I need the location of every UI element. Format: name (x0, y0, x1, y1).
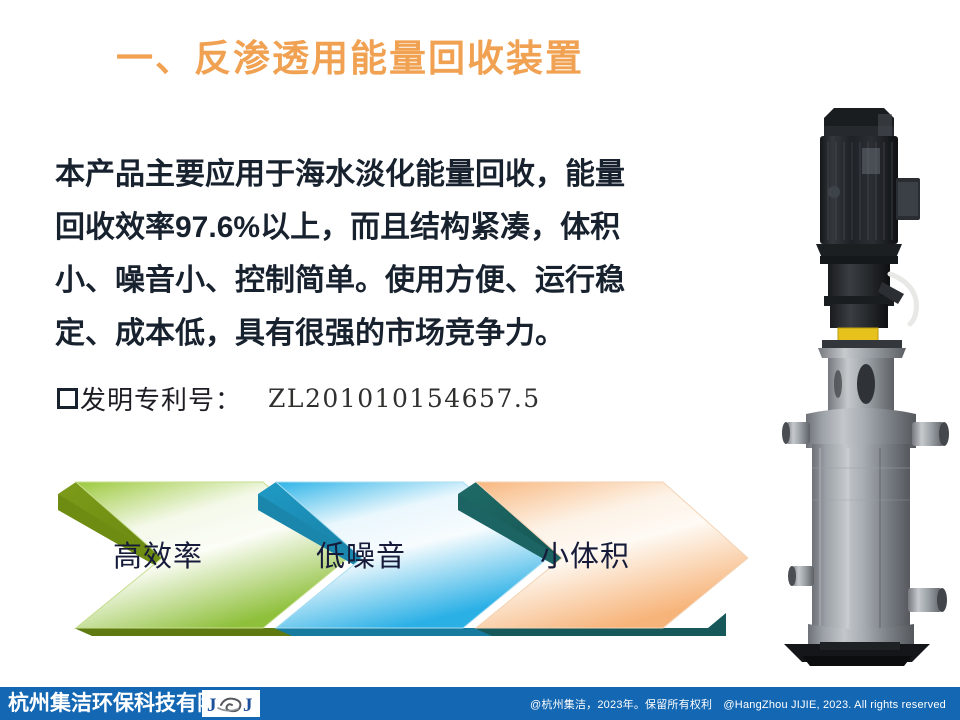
chevron-group: 高效率 (0, 470, 740, 640)
page-title: 一、反渗透用能量回收装置 (0, 28, 700, 82)
patent-label: 发明专利号： (80, 380, 242, 417)
company-logo: J J (202, 690, 260, 717)
footer-copyright: @杭州集洁，2023年。保留所有权利 @HangZhou JIJIE, 2023… (530, 696, 946, 712)
chevron-label: 低噪音 (316, 533, 406, 575)
footer-bar: 杭州集洁环保科技有限公司 J J @杭州集洁，2023年。保留所有权利 @Han… (0, 687, 960, 720)
chevron-label: 高效率 (113, 533, 203, 575)
jijie-logo-icon: J J (205, 693, 257, 715)
patent-number: ZL201010154657.5 (268, 384, 541, 413)
patent-row: 发明专利号： ZL201010154657.5 (57, 380, 541, 417)
svg-text:J: J (207, 695, 217, 715)
body-paragraph: 本产品主要应用于海水淡化能量回收，能量 回收效率97.6%以上，而且结构紧凑，体… (55, 148, 695, 360)
pump-illustration (762, 96, 960, 666)
svg-text:J: J (243, 695, 253, 715)
slide-canvas: 一、反渗透用能量回收装置 本产品主要应用于海水淡化能量回收，能量 回收效率97.… (0, 0, 960, 720)
body-line: 定、成本低，具有很强的市场竞争力。 (55, 307, 695, 360)
body-line: 回收效率97.6%以上，而且结构紧凑，体积 (55, 201, 695, 254)
product-image-pump (762, 96, 960, 666)
chevron-label: 小体积 (540, 533, 630, 575)
body-line: 小、噪音小、控制简单。使用方便、运行稳 (55, 254, 695, 307)
chevron-small-volume[interactable]: 小体积 (458, 470, 748, 638)
square-bullet-icon (57, 388, 78, 409)
body-line: 本产品主要应用于海水淡化能量回收，能量 (55, 148, 695, 201)
